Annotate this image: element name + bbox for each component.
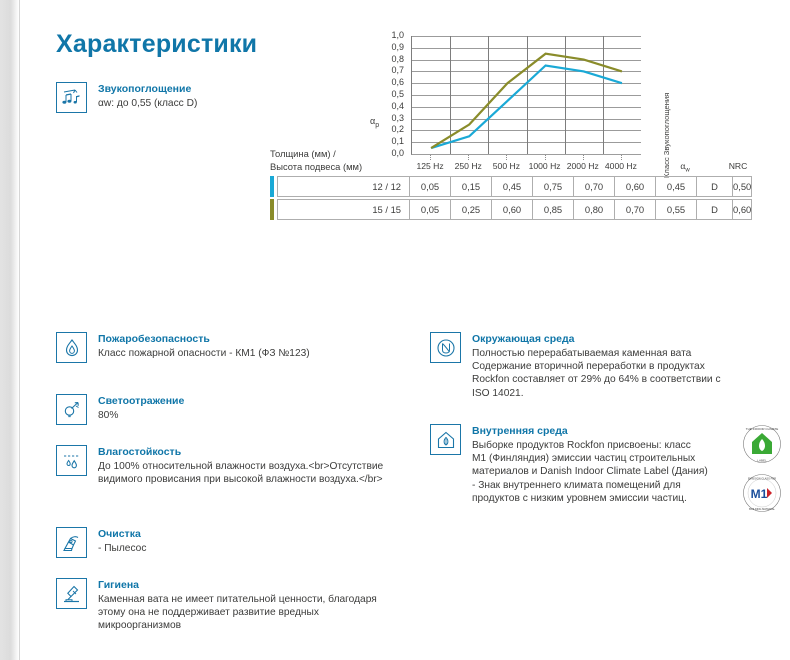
table-cell-nrc: 0,50 <box>733 177 751 196</box>
feature-title: Пожаробезопасность <box>98 333 310 346</box>
feature-title: Окружающая среда <box>472 333 721 346</box>
feature-title: Влагостойкость <box>98 446 386 459</box>
chart-series-line <box>431 66 622 149</box>
table-row: 15 / 150,050,250,600,850,800,700,55D0,60 <box>270 199 748 220</box>
feature-body: Каменная вата не имеет питательной ценно… <box>98 593 386 633</box>
chart-y-tick: 0,9 <box>378 42 404 52</box>
feature-flame: ПожаробезопасностьКласс пожарной опаснос… <box>56 332 376 363</box>
feature-body: αw: до 0,55 (класс D) <box>98 97 197 110</box>
chart-y-tick: 0,3 <box>378 113 404 123</box>
feature-body: 80% <box>98 409 184 422</box>
feature-recycle-leaf: Окружающая средаПолностью перерабатываем… <box>430 332 740 400</box>
feature-title: Гигиена <box>98 579 386 592</box>
page-left-gutter <box>0 0 19 660</box>
chart-y-tick: 0,1 <box>378 136 404 146</box>
acoustic-data-table: Толщина (мм) / Высота подвеса (мм) 12 / … <box>270 176 748 222</box>
chart-y-tick: 0,7 <box>378 65 404 75</box>
table-cell-value: 0,85 <box>533 200 574 219</box>
indoor-climate-label-badge: THE INDOOR CLIMATE LABEL <box>742 424 782 464</box>
svg-text:M1: M1 <box>751 487 768 501</box>
vacuum-cleaner-icon <box>56 527 87 558</box>
table-cell-aw: 0,45 <box>656 177 697 196</box>
svg-text:BUILDING MATERIAL: BUILDING MATERIAL <box>749 507 775 511</box>
feature-house-leaf: Внутренняя средаВыборке продуктов Rockfo… <box>430 424 740 505</box>
recycle-leaf-icon <box>430 332 461 363</box>
table-cell-value: 0,80 <box>574 200 615 219</box>
feature-microscope: ГигиенаКаменная вата не имеет питательно… <box>56 578 386 633</box>
feature-body: Полностью перерабатываемая каменная вата… <box>472 347 721 400</box>
feature-sound-absorption: Звукопоглощение αw: до 0,55 (класс D) <box>56 82 197 113</box>
table-cell-class: D <box>697 177 733 196</box>
chart-y-tick: 0,4 <box>378 101 404 111</box>
m1-emission-class-badge: M1 EMISSION CLASS FOR BUILDING MATERIAL <box>742 473 782 513</box>
table-cell-value: 0,60 <box>492 200 533 219</box>
class-column-rotated-label: Класс Звукопоглощения <box>662 93 671 178</box>
feature-title: Очистка <box>98 528 146 541</box>
feature-body: - Пылесос <box>98 542 146 555</box>
chart-y-tick: 0,8 <box>378 54 404 64</box>
table-row-header-line2: Высота подвеса (мм) <box>270 161 420 174</box>
page-title: Характеристики <box>56 30 257 59</box>
svg-text:LABEL: LABEL <box>757 459 767 463</box>
chart-series-line <box>431 54 622 148</box>
table-cell-aw: 0,55 <box>656 200 697 219</box>
table-cell-value: 0,45 <box>492 177 533 196</box>
svg-text:THE INDOOR CLIMATE: THE INDOOR CLIMATE <box>746 427 778 431</box>
feature-title: Внутренняя среда <box>472 425 708 438</box>
table-cell-value: 0,25 <box>451 200 492 219</box>
table-row-color-bar <box>270 199 274 220</box>
feature-body: Класс пожарной опасности - КМ1 (ФЗ №123) <box>98 347 310 360</box>
table-cell-value: 0,05 <box>410 177 451 196</box>
table-cell-value: 0,15 <box>451 177 492 196</box>
feature-water-drop: ВлагостойкостьДо 100% относительной влаж… <box>56 445 386 486</box>
table-row-header-line1: Толщина (мм) / <box>270 148 420 161</box>
table-cell-value: 0,70 <box>615 200 656 219</box>
table-cell-value: 0,05 <box>410 200 451 219</box>
table-cell-value: 0,60 <box>615 177 656 196</box>
music-notes-icon <box>56 82 87 113</box>
table-row-header: Толщина (мм) / Высота подвеса (мм) <box>270 148 420 173</box>
chart-y-tick: 0,2 <box>378 124 404 134</box>
water-drop-icon <box>56 445 87 476</box>
table-cell-nrc: 0,60 <box>733 200 751 219</box>
table-cell-thickness: 15 / 15 <box>278 200 410 219</box>
feature-title: Светоотражение <box>98 395 184 408</box>
flame-icon <box>56 332 87 363</box>
light-bulb-icon <box>56 394 87 425</box>
chart-x-tick: 4000 Hz <box>598 161 644 171</box>
feature-title: Звукопоглощение <box>98 83 197 96</box>
chart-y-tick: 0,6 <box>378 77 404 87</box>
chart-plot-area <box>411 36 641 155</box>
table-cell-value: 0,70 <box>574 177 615 196</box>
feature-vacuum-cleaner: Очистка- Пылесос <box>56 527 376 558</box>
svg-text:EMISSION CLASS FOR: EMISSION CLASS FOR <box>748 477 776 481</box>
house-leaf-icon <box>430 424 461 455</box>
feature-body: Выборке продуктов Rockfon присвоены: кла… <box>472 439 708 505</box>
chart-y-tick: 0,5 <box>378 89 404 99</box>
page-gutter-divider <box>19 0 20 660</box>
chart-y-tick: 1,0 <box>378 30 404 40</box>
feature-body: До 100% относительной влажности воздуха.… <box>98 460 386 486</box>
microscope-icon <box>56 578 87 609</box>
table-cell-value: 0,75 <box>533 177 574 196</box>
table-row-color-bar <box>270 176 274 197</box>
table-row: 12 / 120,050,150,450,750,700,600,45D0,50 <box>270 176 748 197</box>
chart-x-tick-nrc: NRC <box>715 161 761 171</box>
feature-light-bulb: Светоотражение80% <box>56 394 376 425</box>
certification-badges: THE INDOOR CLIMATE LABEL M1 EMISSION CLA… <box>742 424 786 522</box>
table-cell-thickness: 12 / 12 <box>278 177 410 196</box>
table-cell-class: D <box>697 200 733 219</box>
